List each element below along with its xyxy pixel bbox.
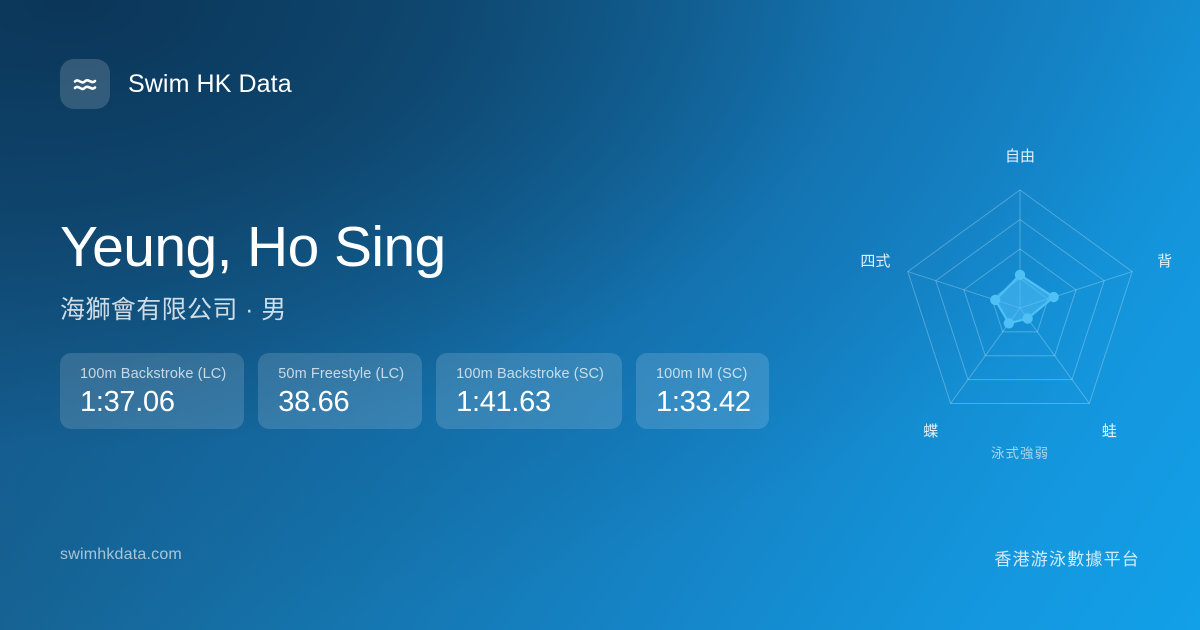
radar-axis-label: 背 bbox=[1157, 253, 1172, 270]
radar-data-point bbox=[1004, 318, 1014, 328]
radar-data-point bbox=[990, 295, 1000, 305]
radar-data-point bbox=[1048, 292, 1058, 302]
brand-lockup: Swim HK Data bbox=[60, 59, 292, 109]
stat-card: 100m Backstroke (LC) 1:37.06 bbox=[60, 353, 244, 429]
share-card-canvas: Swim HK Data Yeung, Ho Sing 海獅會有限公司 · 男 … bbox=[0, 0, 1200, 630]
brand-name: Swim HK Data bbox=[128, 70, 292, 99]
wave-icon bbox=[60, 59, 110, 109]
radar-data-point bbox=[1015, 270, 1025, 280]
page-title: Yeung, Ho Sing bbox=[60, 218, 740, 278]
radar-axis-label: 蝶 bbox=[923, 423, 938, 440]
radar-caption: 泳式強弱 bbox=[860, 442, 1180, 462]
footer-site-url: swimhkdata.com bbox=[60, 546, 182, 564]
stat-card-label: 100m Backstroke (SC) bbox=[456, 366, 604, 382]
radar-axis-label: 自由 bbox=[1005, 148, 1035, 165]
stat-card: 100m IM (SC) 1:33.42 bbox=[636, 353, 769, 429]
athlete-meta: 海獅會有限公司 · 男 bbox=[60, 290, 740, 326]
stat-card-value: 38.66 bbox=[278, 386, 404, 419]
stat-card-value: 1:33.42 bbox=[656, 386, 751, 419]
stat-card-label: 100m IM (SC) bbox=[656, 366, 751, 382]
athlete-hero: Yeung, Ho Sing 海獅會有限公司 · 男 bbox=[60, 218, 740, 326]
radar-axis-label: 四式 bbox=[860, 253, 890, 270]
stat-card: 50m Freestyle (LC) 38.66 bbox=[258, 353, 422, 429]
stat-card: 100m Backstroke (SC) 1:41.63 bbox=[436, 353, 622, 429]
radar-data-point bbox=[1022, 313, 1032, 323]
stat-card-label: 50m Freestyle (LC) bbox=[278, 366, 404, 382]
stat-card-value: 1:37.06 bbox=[80, 386, 226, 419]
radar-axis-label: 蛙 bbox=[1102, 423, 1117, 440]
stat-card-label: 100m Backstroke (LC) bbox=[80, 366, 226, 382]
footer-tagline: 香港游泳數據平台 bbox=[994, 545, 1140, 570]
stroke-strength-radar-chart: 自由背蛙蝶四式 bbox=[860, 160, 1180, 480]
stat-card-row: 100m Backstroke (LC) 1:37.06 50m Freesty… bbox=[60, 353, 769, 429]
stat-card-value: 1:41.63 bbox=[456, 386, 604, 419]
